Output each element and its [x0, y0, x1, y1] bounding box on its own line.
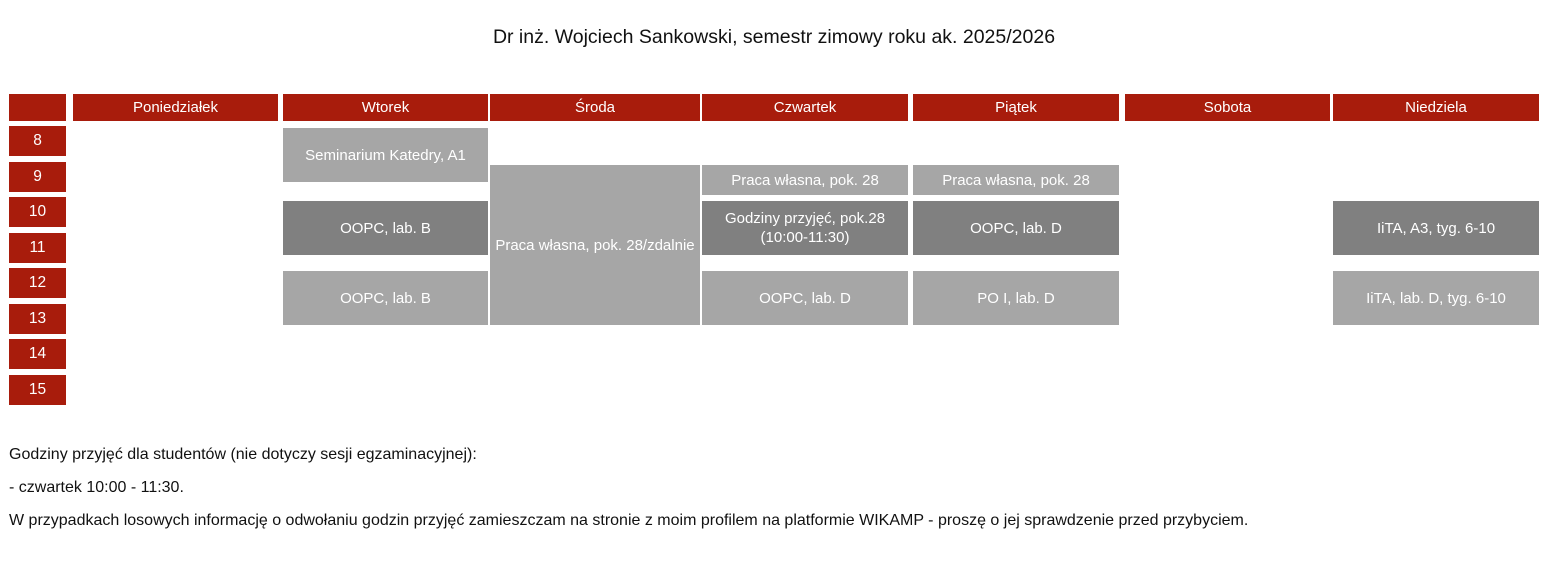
timetable-event-label: Godziny przyjęć, pok.28 (10:00-11:30)	[704, 209, 906, 247]
note-line-1: Godziny przyjęć dla studentów (nie dotyc…	[9, 444, 1544, 465]
hour-label-13: 13	[9, 304, 66, 334]
timetable-event-label: OOPC, lab. B	[285, 219, 486, 238]
timetable-event-label: OOPC, lab. D	[704, 289, 906, 308]
hour-label-14: 14	[9, 339, 66, 369]
timetable-event[interactable]: OOPC, lab. D	[913, 201, 1119, 255]
note-line-3: W przypadkach losowych informację o odwo…	[9, 510, 1544, 531]
timetable-event-label: OOPC, lab. B	[285, 289, 486, 308]
timetable-event-label: OOPC, lab. D	[915, 219, 1117, 238]
day-header-5: Piątek	[913, 94, 1119, 121]
timetable-event[interactable]: Seminarium Katedry, A1	[283, 128, 488, 182]
day-header-4: Czwartek	[702, 94, 908, 121]
day-header-1: Poniedziałek	[73, 94, 278, 121]
day-header-6: Sobota	[1125, 94, 1330, 121]
day-header-2: Wtorek	[283, 94, 488, 121]
hour-label-10: 10	[9, 197, 66, 227]
timetable-event[interactable]: Godziny przyjęć, pok.28 (10:00-11:30)	[702, 201, 908, 255]
timetable-event-label: Praca własna, pok. 28	[704, 171, 906, 190]
timetable-event-label: PO I, lab. D	[915, 289, 1117, 308]
note-line-2: - czwartek 10:00 - 11:30.	[9, 477, 1544, 498]
weekly-timetable: PoniedziałekWtorekŚrodaCzwartekPiątekSob…	[0, 94, 1548, 406]
notes-section: Godziny przyjęć dla studentów (nie dotyc…	[9, 444, 1544, 531]
timetable-event[interactable]: Praca własna, pok. 28/zdalnie	[490, 165, 700, 325]
hour-label-9: 9	[9, 162, 66, 192]
day-header-3: Środa	[490, 94, 700, 121]
hour-label-15: 15	[9, 375, 66, 405]
timetable-event-label: IiTA, lab. D, tyg. 6-10	[1335, 289, 1537, 308]
timetable-event-label: Praca własna, pok. 28	[915, 171, 1117, 190]
timetable-event[interactable]: OOPC, lab. D	[702, 271, 908, 325]
timetable-event[interactable]: IiTA, A3, tyg. 6-10	[1333, 201, 1539, 255]
timetable-event-label: IiTA, A3, tyg. 6-10	[1335, 219, 1537, 238]
hour-label-12: 12	[9, 268, 66, 298]
timetable-event-label: Praca własna, pok. 28/zdalnie	[492, 236, 698, 255]
day-header-7: Niedziela	[1333, 94, 1539, 121]
timetable-event[interactable]: Praca własna, pok. 28	[913, 165, 1119, 195]
page-title: Dr inż. Wojciech Sankowski, semestr zimo…	[0, 24, 1548, 50]
hour-label-8: 8	[9, 126, 66, 156]
hour-label-11: 11	[9, 233, 66, 263]
timetable-corner-cell	[9, 94, 66, 121]
timetable-event[interactable]: PO I, lab. D	[913, 271, 1119, 325]
timetable-event[interactable]: OOPC, lab. B	[283, 201, 488, 255]
timetable-event-label: Seminarium Katedry, A1	[285, 146, 486, 165]
timetable-event[interactable]: OOPC, lab. B	[283, 271, 488, 325]
timetable-event[interactable]: Praca własna, pok. 28	[702, 165, 908, 195]
timetable-event[interactable]: IiTA, lab. D, tyg. 6-10	[1333, 271, 1539, 325]
